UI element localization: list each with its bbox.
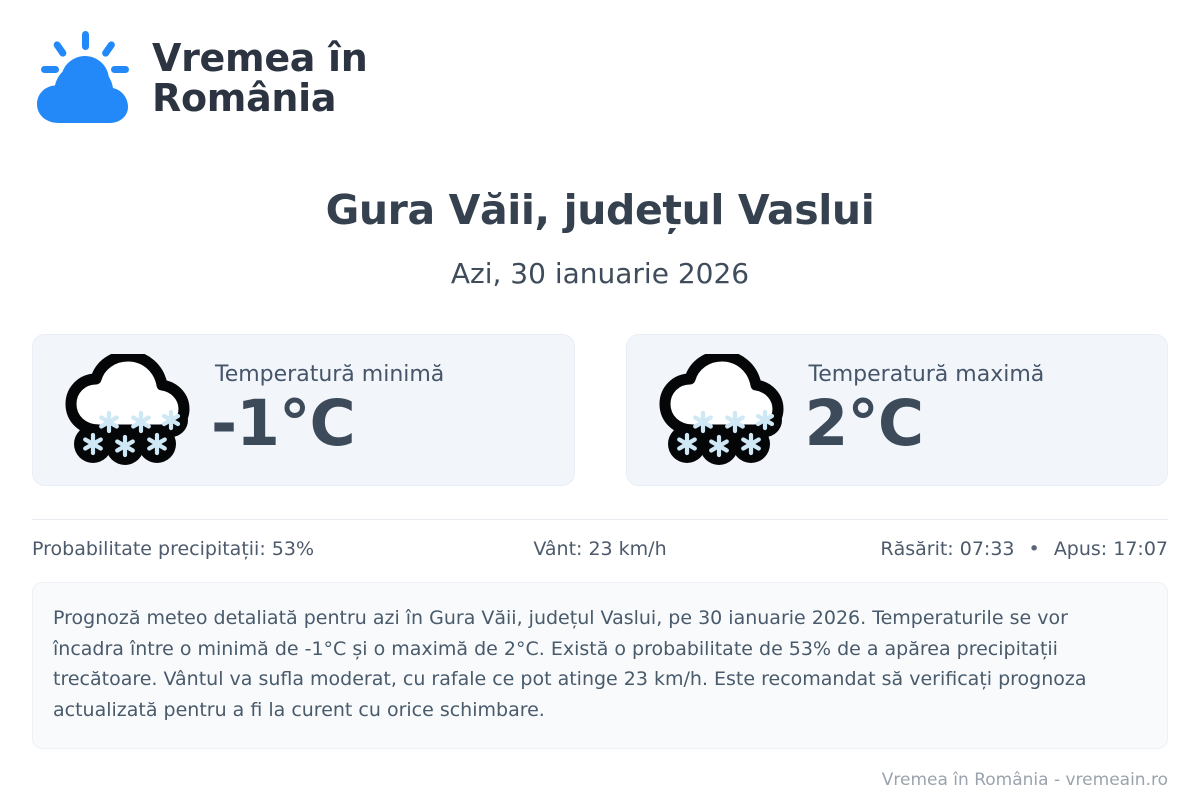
brand-title: Vremea în România — [152, 39, 368, 119]
weather-page: Vremea în România Gura Văii, județul Vas… — [0, 0, 1200, 800]
min-temperature-value: -1°C — [211, 390, 560, 458]
page-title: Gura Văii, județul Vaslui — [32, 188, 1168, 233]
sunset-time: Apus: 17:07 — [1054, 538, 1168, 560]
sunrise-time: Răsărit: 07:33 — [880, 538, 1014, 560]
page-subtitle: Azi, 30 ianuarie 2026 — [32, 259, 1168, 290]
footer-credit: Vremea în România - vremeain.ro — [882, 770, 1168, 790]
snow-cloud-icon — [63, 354, 195, 466]
min-temperature-card: Temperatură minimă -1°C — [32, 334, 575, 486]
sun-behind-cloud-icon — [32, 29, 134, 129]
sun-times-stat: Răsărit: 07:33 • Apus: 17:07 — [789, 538, 1168, 560]
snow-cloud-icon — [657, 354, 789, 466]
max-temperature-text: Temperatură maximă 2°C — [805, 362, 1154, 458]
temperature-cards: Temperatură minimă -1°C — [32, 334, 1168, 486]
weather-stats-row: Probabilitate precipitații: 53% Vânt: 23… — [32, 520, 1168, 560]
site-header: Vremea în România — [32, 0, 1168, 110]
max-temperature-card: Temperatură maximă 2°C — [626, 334, 1169, 486]
max-temperature-label: Temperatură maximă — [805, 362, 1154, 388]
precipitation-stat: Probabilitate precipitații: 53% — [32, 538, 411, 560]
sun-times-separator: • — [1021, 538, 1048, 560]
wind-stat: Vânt: 23 km/h — [411, 538, 790, 560]
min-temperature-text: Temperatură minimă -1°C — [211, 362, 560, 458]
min-temperature-label: Temperatură minimă — [211, 362, 560, 388]
forecast-description: Prognoză meteo detaliată pentru azi în G… — [32, 582, 1168, 749]
max-temperature-value: 2°C — [805, 390, 1154, 458]
